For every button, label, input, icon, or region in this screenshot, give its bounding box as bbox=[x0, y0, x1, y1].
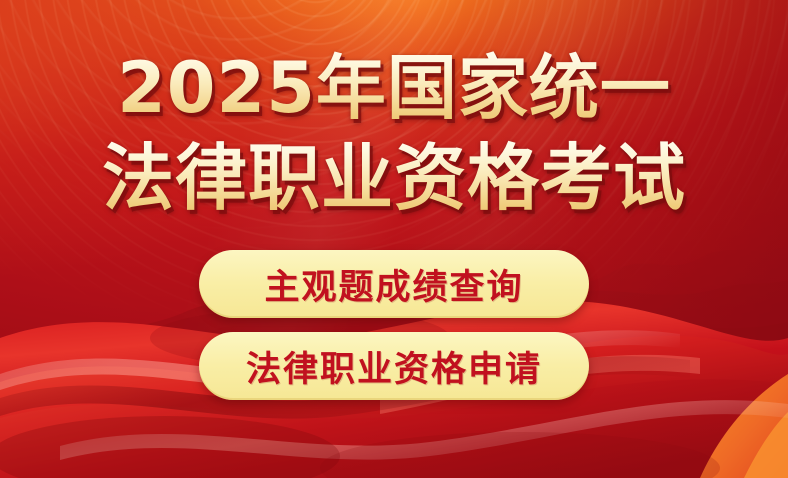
exam-promo-banner: 2025年国家统一 法律职业资格考试 主观题成绩查询 法律职业资格申请 bbox=[0, 0, 788, 478]
subjective-score-query-button[interactable]: 主观题成绩查询 bbox=[199, 250, 589, 318]
banner-title-line-1: 2025年国家统一 bbox=[117, 46, 671, 130]
legal-qualification-apply-label: 法律职业资格申请 bbox=[246, 341, 542, 392]
banner-title-line-2: 法律职业资格考试 bbox=[102, 136, 686, 220]
banner-action-buttons: 主观题成绩查询 法律职业资格申请 bbox=[199, 250, 589, 400]
subjective-score-query-label: 主观题成绩查询 bbox=[264, 259, 523, 310]
legal-qualification-apply-button[interactable]: 法律职业资格申请 bbox=[199, 332, 589, 400]
banner-content: 2025年国家统一 法律职业资格考试 主观题成绩查询 法律职业资格申请 bbox=[0, 0, 788, 478]
